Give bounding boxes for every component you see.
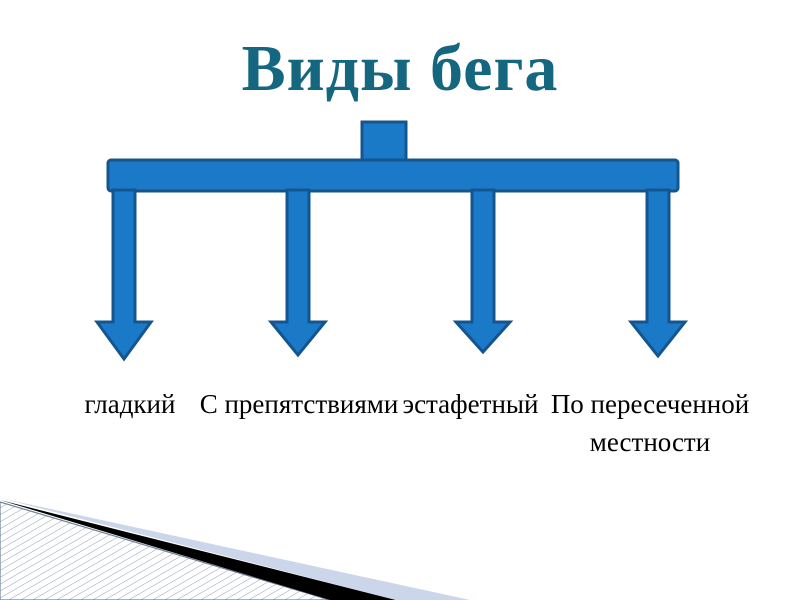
- diagram-spine-bar: [108, 160, 678, 191]
- branch-arrow-2: [271, 190, 325, 355]
- branch-label-po-peresechennoy-mestnosti: По пересеченной местности: [510, 385, 790, 461]
- branch-arrow-3: [456, 190, 510, 352]
- branch-arrow-1: [97, 190, 151, 359]
- diagram-stub-box: [362, 122, 406, 162]
- slide-canvas: Виды бега гладкий С препятствиями эстафе…: [0, 0, 800, 600]
- branch-arrow-4: [631, 190, 685, 356]
- branching-arrow-diagram: [0, 0, 800, 600]
